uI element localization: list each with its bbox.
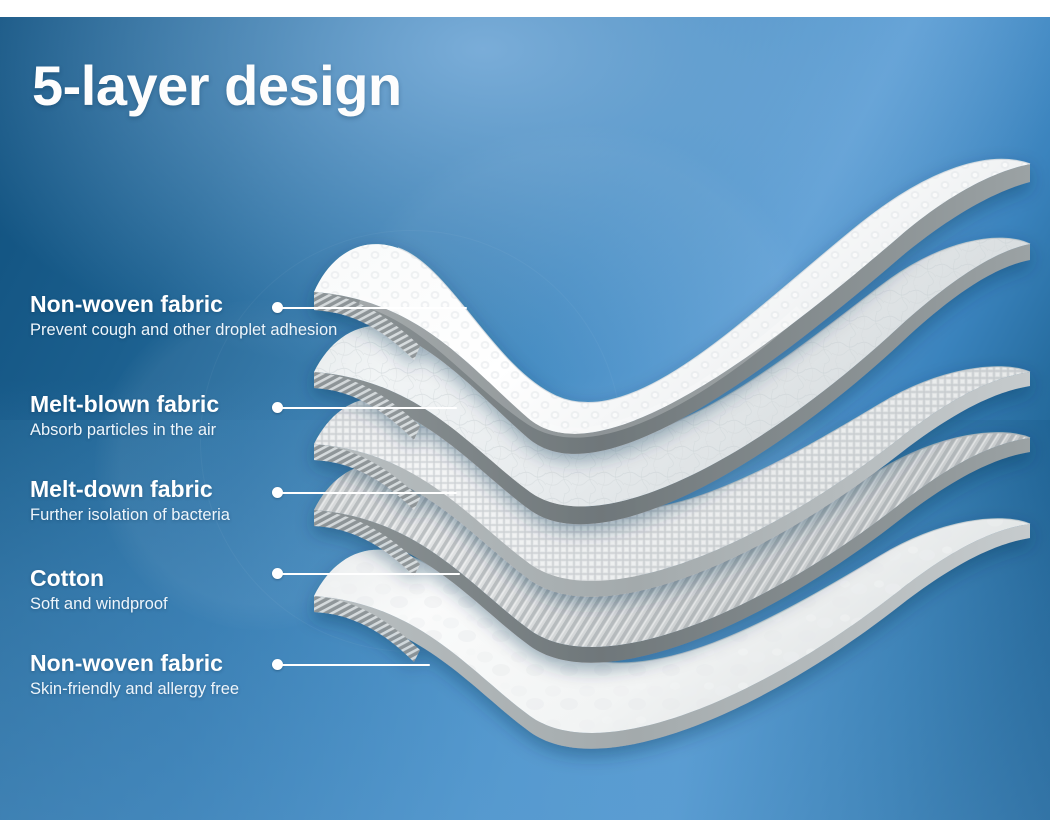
label-title-layer-2: Melt-blown fabric [30, 392, 219, 416]
label-sub-layer-4: Soft and windproof [30, 595, 168, 615]
leader-line-layer-3 [282, 492, 457, 495]
leader-line-layer-1 [282, 307, 467, 310]
label-sub-layer-5: Skin-friendly and allergy free [30, 680, 239, 700]
label-title-layer-3: Melt-down fabric [30, 477, 230, 501]
leader-line-layer-4 [282, 573, 460, 576]
label-title-layer-1: Non-woven fabric [30, 292, 337, 316]
label-group-layer-1: Non-woven fabric Prevent cough and other… [30, 292, 337, 341]
infographic-root: 5-layer design Non-woven fabric Prevent … [0, 0, 1050, 820]
leader-line-layer-5 [282, 664, 430, 667]
leader-line-layer-2 [282, 407, 457, 410]
label-group-layer-2: Melt-blown fabric Absorb particles in th… [30, 392, 219, 441]
label-title-layer-5: Non-woven fabric [30, 651, 239, 675]
label-group-layer-3: Melt-down fabric Further isolation of ba… [30, 477, 230, 526]
layer-labels: Non-woven fabric Prevent cough and other… [0, 0, 1050, 820]
label-sub-layer-3: Further isolation of bacteria [30, 506, 230, 526]
label-title-layer-4: Cotton [30, 566, 168, 590]
label-sub-layer-1: Prevent cough and other droplet adhesion [30, 321, 337, 341]
label-group-layer-5: Non-woven fabric Skin-friendly and aller… [30, 651, 239, 700]
label-sub-layer-2: Absorb particles in the air [30, 421, 219, 441]
top-white-band [0, 0, 1050, 17]
label-group-layer-4: Cotton Soft and windproof [30, 566, 168, 615]
